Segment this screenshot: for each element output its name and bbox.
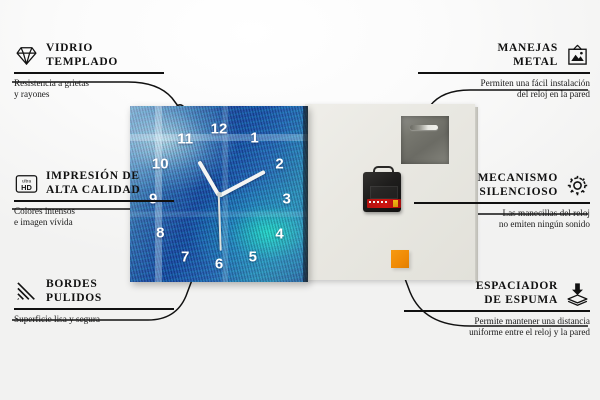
feature-head: MECANISMO SILENCIOSO	[414, 172, 590, 199]
feature-title-line1: VIDRIO	[46, 42, 118, 56]
polished-edge-icon	[14, 279, 39, 304]
diamond-icon	[14, 43, 39, 68]
feature-desc-line1: Superficie lisa y segura	[14, 314, 174, 326]
feature-title: BORDES PULIDOS	[46, 278, 102, 305]
clock-numeral-7: 7	[181, 250, 189, 265]
feature-impresion-alta-calidad: ultra HD IMPRESIÓN DE ALTA CALIDAD Color…	[14, 170, 174, 229]
feature-espaciador-espuma: ESPACIADOR DE ESPUMA Permite mantener un…	[404, 280, 590, 339]
feature-divider	[14, 308, 174, 309]
feature-description: Superficie lisa y segura	[14, 314, 174, 326]
orange-foam-spacer	[391, 250, 409, 268]
mechanism-panel	[370, 186, 398, 199]
feature-head: ultra HD IMPRESIÓN DE ALTA CALIDAD	[14, 170, 174, 197]
feature-title-line2: TEMPLADO	[46, 56, 118, 70]
foam-spacer-icon	[565, 281, 590, 306]
feature-divider	[14, 200, 174, 201]
picture-frame-hanger-icon	[565, 43, 590, 68]
clock-mechanism	[361, 166, 403, 212]
ultra-hd-icon: ultra HD	[14, 171, 39, 196]
hanger-slot	[410, 125, 438, 130]
feature-description: Las manecillas del reloj no emiten ningú…	[414, 208, 590, 232]
feature-title: IMPRESIÓN DE ALTA CALIDAD	[46, 170, 140, 197]
feature-title-line1: MECANISMO	[478, 172, 558, 186]
feature-divider	[404, 310, 590, 311]
feature-title-line1: MANEJAS	[498, 42, 559, 56]
feature-head: BORDES PULIDOS	[14, 278, 174, 305]
feature-title: ESPACIADOR DE ESPUMA	[476, 280, 558, 307]
feature-divider	[418, 72, 590, 73]
feature-head: VIDRIO TEMPLADO	[14, 42, 164, 69]
feature-desc-line1: Las manecillas del reloj	[414, 208, 590, 220]
metal-hanger-plate	[401, 116, 449, 164]
mechanism-body	[363, 172, 401, 212]
feature-title-line2: SILENCIOSO	[478, 186, 558, 200]
feature-mecanismo-silencioso: MECANISMO SILENCIOSO Las manecillas del …	[414, 172, 590, 231]
feature-description: Colores intensos e imagen vívida	[14, 206, 174, 230]
feature-title: MECANISMO SILENCIOSO	[478, 172, 558, 199]
svg-text:HD: HD	[21, 183, 32, 192]
clock-numeral-2: 2	[275, 157, 283, 172]
gear-icon	[565, 173, 590, 198]
feature-desc-line2: y rayones	[14, 89, 164, 101]
feature-title: VIDRIO TEMPLADO	[46, 42, 118, 69]
feature-title-line1: BORDES	[46, 278, 102, 292]
feature-description: Permite mantener una distancia uniforme …	[404, 316, 590, 340]
feature-desc-line2: del reloj en la pared	[418, 89, 590, 101]
clock-center-cap	[217, 192, 222, 197]
clock-numeral-12: 12	[211, 121, 228, 136]
feature-desc-line2: uniforme entre el reloj y la pared	[404, 327, 590, 339]
feature-desc-line1: Permiten una fácil instalación	[418, 78, 590, 90]
feature-title-line2: ALTA CALIDAD	[46, 184, 140, 198]
feature-divider	[14, 72, 164, 73]
feature-desc-line1: Permite mantener una distancia	[404, 316, 590, 328]
feature-title-line1: ESPACIADOR	[476, 280, 558, 294]
clock-numeral-1: 1	[250, 130, 258, 145]
battery-label	[367, 199, 401, 208]
feature-title-line2: DE ESPUMA	[476, 294, 558, 308]
feature-title: MANEJAS METAL	[498, 42, 559, 69]
clock-numeral-11: 11	[177, 132, 193, 147]
feature-divider	[414, 202, 590, 203]
feature-desc-line2: e imagen vívida	[14, 217, 174, 229]
clock-numeral-6: 6	[215, 257, 223, 272]
feature-title-line2: PULIDOS	[46, 292, 102, 306]
feature-head: MANEJAS METAL	[418, 42, 590, 69]
clock-numeral-4: 4	[275, 227, 283, 242]
feature-manejas-metal: MANEJAS METAL Permiten una fácil instala…	[418, 42, 590, 101]
infographic-stage: 12 1 2 3 4 5 6 7 8 9 10 11	[0, 0, 600, 400]
feature-vidrio-templado: VIDRIO TEMPLADO Resistencia a grietas y …	[14, 42, 164, 101]
feature-description: Resistencia a grietas y rayones	[14, 78, 164, 102]
feature-head: ESPACIADOR DE ESPUMA	[404, 280, 590, 307]
feature-title-line2: METAL	[498, 56, 559, 70]
feature-bordes-pulidos: BORDES PULIDOS Superficie lisa y segura	[14, 278, 174, 325]
feature-title-line1: IMPRESIÓN DE	[46, 170, 140, 184]
clock-numeral-3: 3	[282, 192, 290, 207]
clock-numeral-5: 5	[249, 250, 257, 265]
feature-desc-line2: no emiten ningún sonido	[414, 219, 590, 231]
feature-desc-line1: Resistencia a grietas	[14, 78, 164, 90]
feature-desc-line1: Colores intensos	[14, 206, 174, 218]
feature-description: Permiten una fácil instalación del reloj…	[418, 78, 590, 102]
